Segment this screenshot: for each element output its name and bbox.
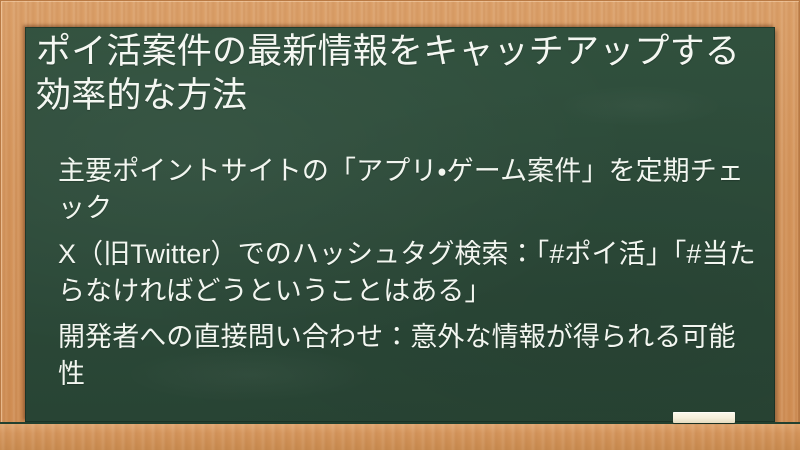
chalkboard-ledge (0, 422, 800, 450)
list-item: 主要ポイントサイトの「アプリ・ゲーム案件」を定期チェック (58, 153, 758, 227)
bullet-list: 主要ポイントサイトの「アプリ・ゲーム案件」を定期チェック X（旧Twitter）… (58, 153, 758, 393)
chalkboard-surface: ポイ活案件の最新情報をキャッチアップする効率的な方法 主要ポイントサイトの「アプ… (25, 27, 775, 422)
list-item: 開発者への直接問い合わせ：意外な情報が得られる可能性 (58, 319, 758, 393)
chalk-stick-icon (673, 412, 735, 423)
page-title: ポイ活案件の最新情報をキャッチアップする効率的な方法 (36, 30, 754, 118)
list-item: X（旧Twitter）でのハッシュタグ検索：「#ポイ活」「#当たらなければどうと… (58, 236, 758, 310)
slide-root: ポイ活案件の最新情報をキャッチアップする効率的な方法 主要ポイントサイトの「アプ… (0, 0, 800, 450)
